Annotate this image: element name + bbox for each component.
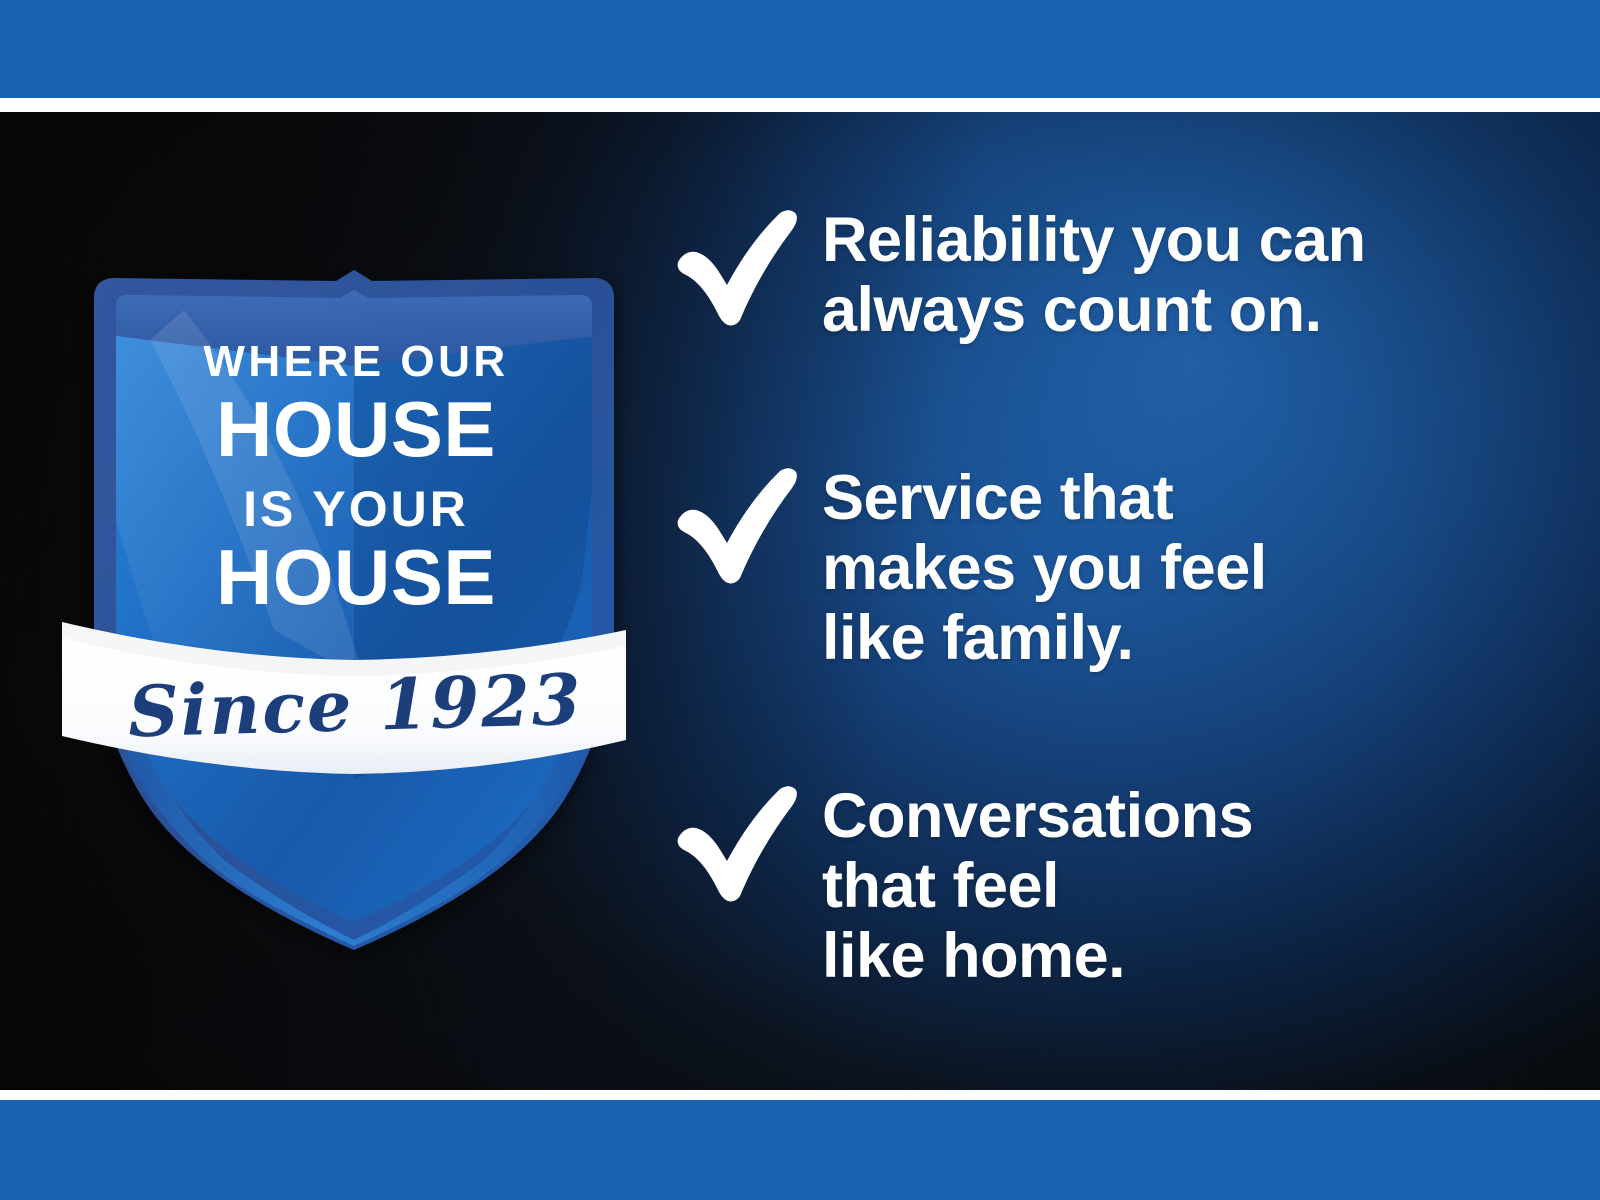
benefit-item-2: Service that makes you feel like family.: [672, 460, 1267, 674]
benefit-item-1: Reliability you can always count on.: [672, 202, 1366, 346]
promo-graphic: WHERE OUR HOUSE IS YOUR HOUSE Since 1923…: [0, 0, 1600, 1200]
badge-line-2: HOUSE: [216, 385, 496, 473]
badge-line-4: HOUSE: [216, 533, 496, 621]
benefit-text-1: Reliability you can always count on.: [822, 202, 1366, 346]
top-brand-bar: [0, 0, 1600, 98]
benefits-list: Reliability you can always count on. Ser…: [672, 150, 1532, 1070]
badge-line-3: IS YOUR: [243, 481, 469, 537]
check-icon: [672, 784, 800, 902]
benefit-text-2: Service that makes you feel like family.: [822, 460, 1267, 674]
shield-badge: WHERE OUR HOUSE IS YOUR HOUSE Since 1923: [64, 160, 624, 960]
bottom-brand-bar: [0, 1100, 1600, 1200]
benefit-item-3: Conversations that feel like home.: [672, 778, 1253, 992]
badge-ribbon-text: Since 1923: [127, 658, 584, 754]
check-icon: [672, 208, 800, 326]
check-icon: [672, 466, 800, 584]
badge-line-1: WHERE OUR: [203, 337, 508, 386]
benefit-text-3: Conversations that feel like home.: [822, 778, 1253, 992]
